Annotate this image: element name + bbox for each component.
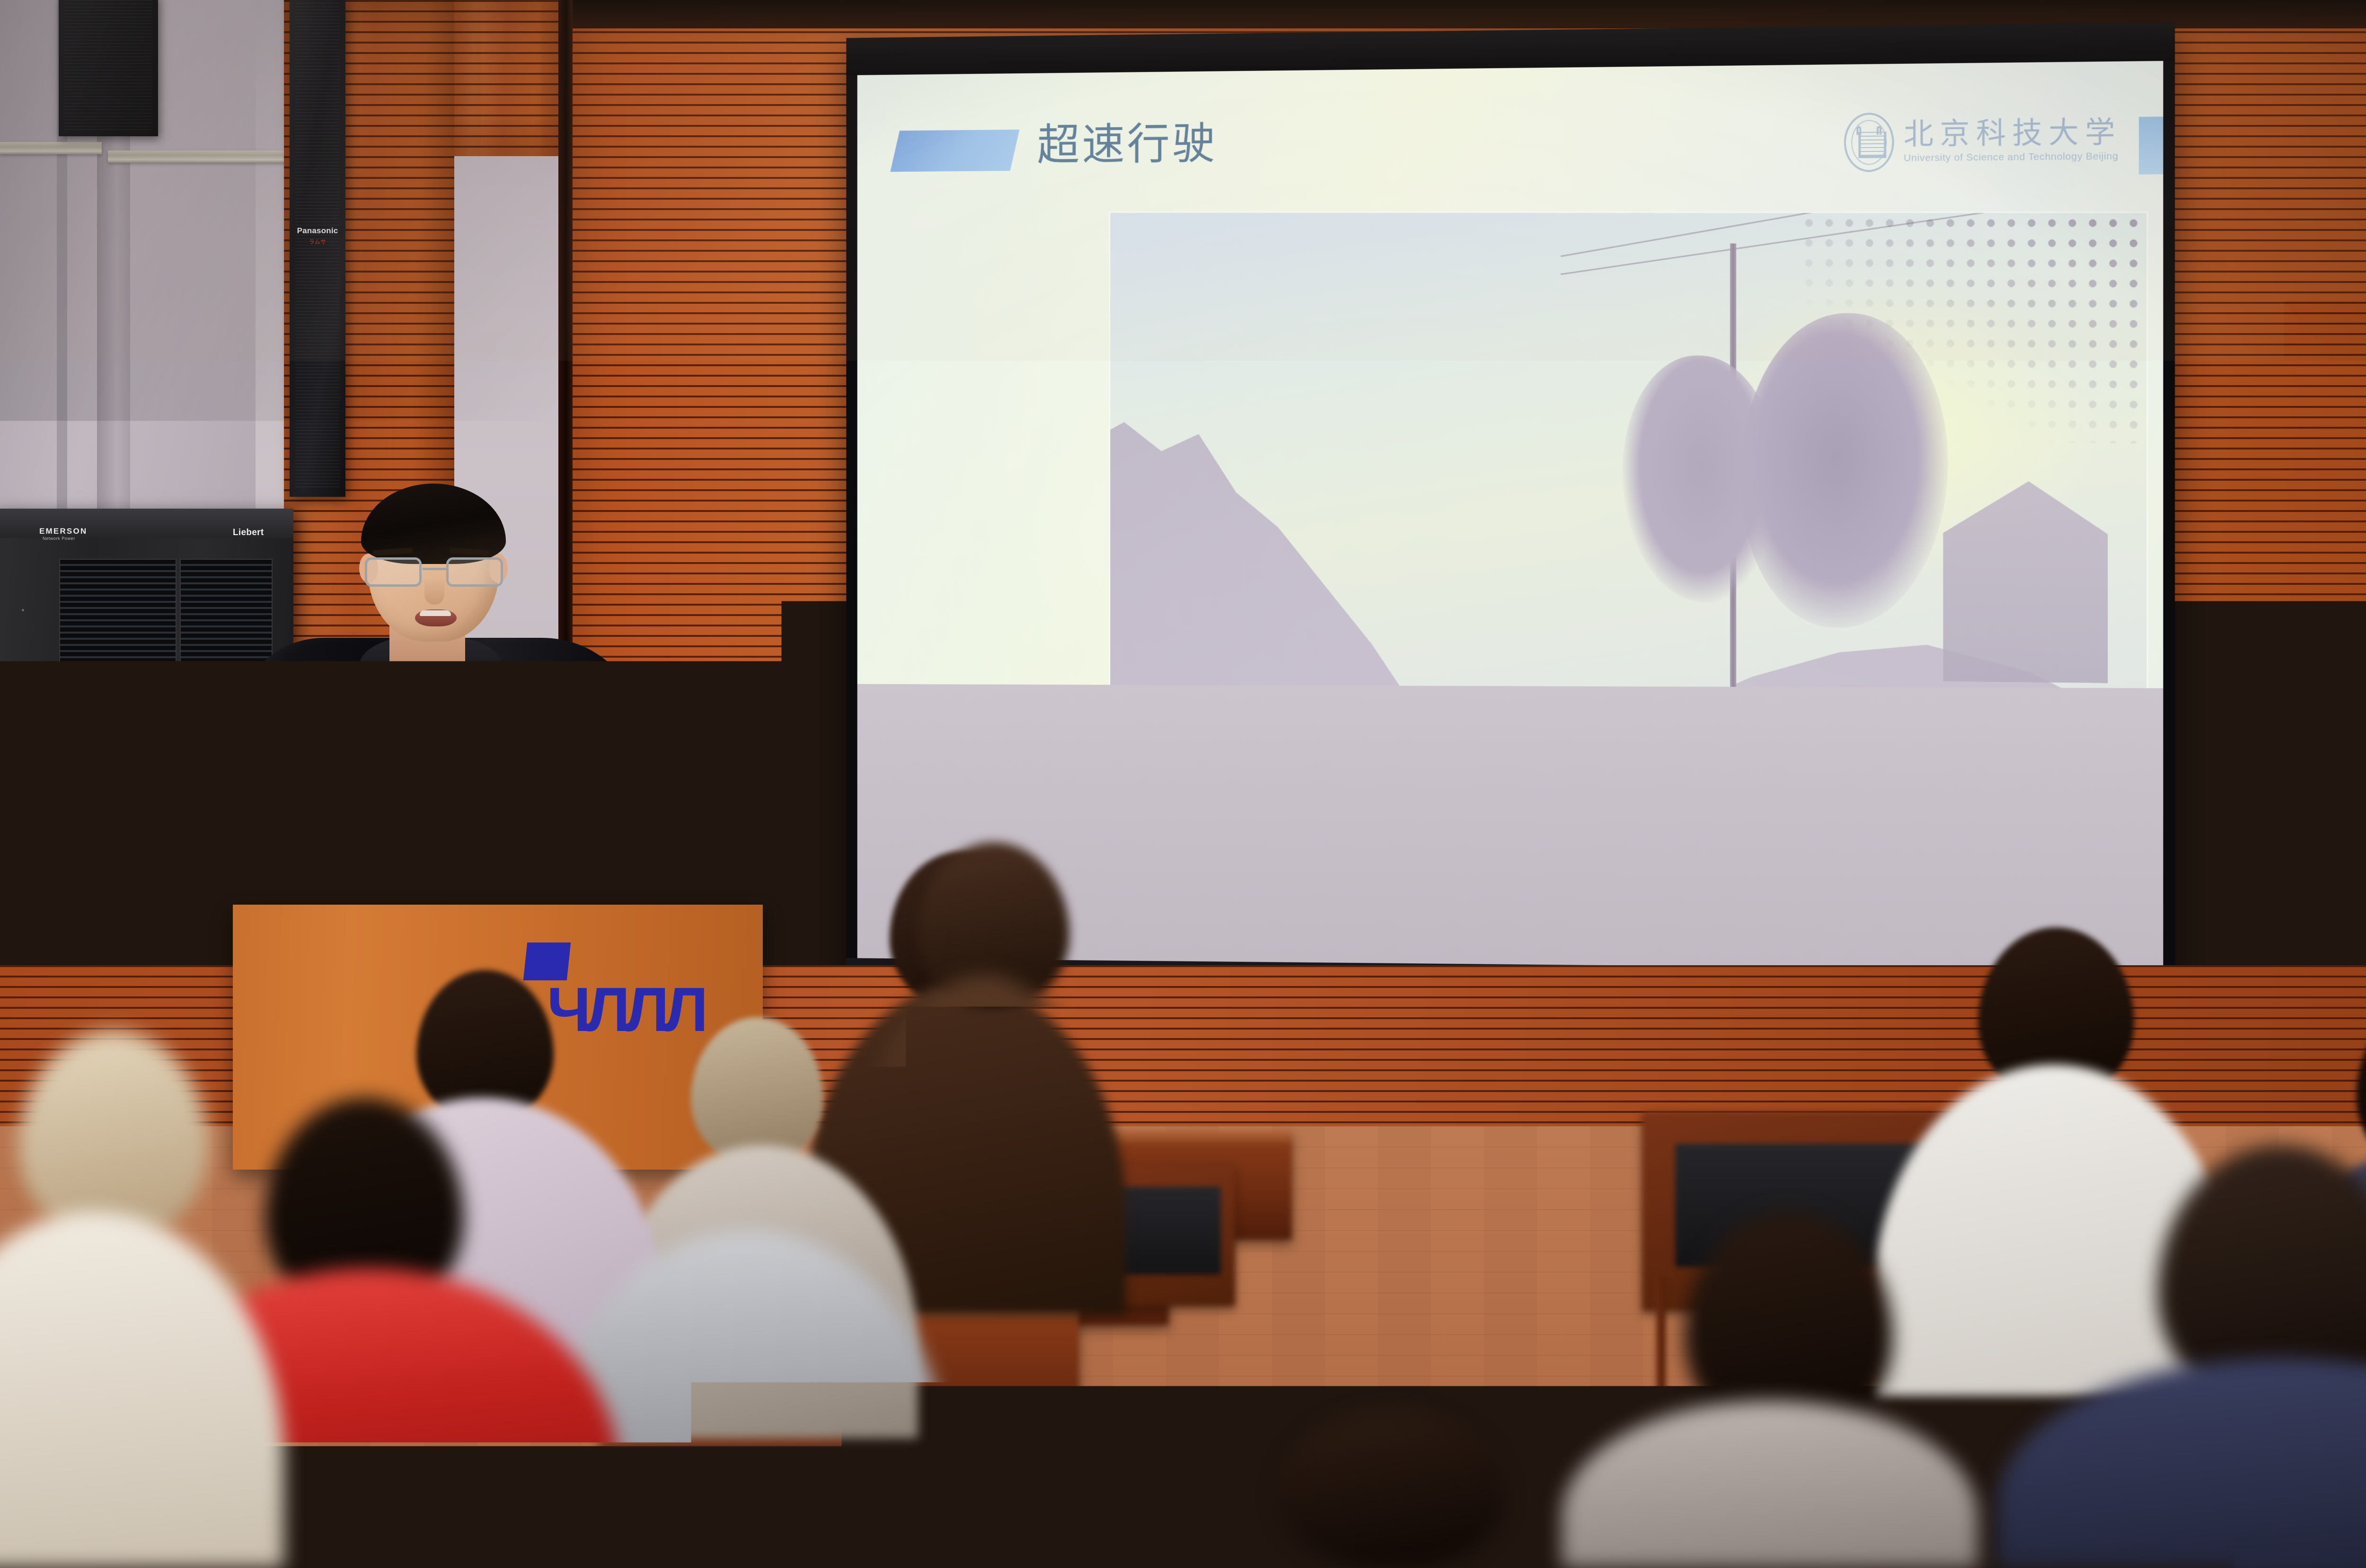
podium-emblem-mark: ЧЛЛЛ (547, 978, 704, 1041)
ups-button-down[interactable] (207, 713, 213, 718)
university-seal-icon (1844, 113, 1894, 172)
laptop[interactable] (464, 827, 653, 878)
presenter-nose (424, 578, 444, 605)
lecture-hall-photo: Panasonic ラムサ EMERSON Network Power Lieb… (0, 0, 2366, 1568)
microphone-head (361, 723, 375, 746)
bottle-cap (421, 824, 441, 838)
ups-vent-left (59, 559, 177, 665)
speaker-grille (295, 3, 340, 488)
emerson-logo-sub: Network Power (43, 536, 75, 541)
slide-side-tab (2139, 116, 2163, 174)
seal-ear-left (1856, 126, 1861, 135)
university-name-en: University of Science and Technology Bei… (1904, 150, 2121, 164)
ups-status-led-green (141, 714, 144, 717)
ceiling-speaker-box (59, 0, 158, 136)
presenter-teeth (420, 610, 451, 616)
speaker-brand-label: Panasonic (290, 226, 345, 236)
university-name-cn: 北京科技大学 (1904, 118, 2121, 150)
ups-info-sticker (156, 730, 195, 747)
ups-status-led-red (148, 714, 151, 717)
ups-screw (22, 609, 24, 611)
glasses-bridge (423, 568, 446, 570)
ups-button[interactable] (199, 713, 205, 718)
slide-title: 超速行驶 (1037, 122, 1218, 167)
ups-button[interactable] (199, 704, 205, 708)
university-logo: 北京科技大学 University of Science and Technol… (1844, 110, 2121, 172)
glasses-lens-left (365, 557, 422, 587)
ups-lcd-display (155, 703, 192, 720)
speaker-brand-sub-label: ラムサ (290, 238, 345, 246)
slide-halftone-decoration (1799, 213, 2147, 443)
ups-button-up[interactable] (207, 704, 213, 708)
slide-accent-bar (890, 130, 1019, 172)
wall-trim-strip (0, 142, 102, 154)
jacket-print-left: #MOVE.ON (332, 755, 376, 764)
seal-ear-right (1877, 126, 1881, 134)
emerson-logo: EMERSON (39, 527, 87, 536)
ups-screw (25, 860, 27, 862)
slatted-wood-wall-left-upper (454, 0, 568, 156)
glasses-lens-right (446, 557, 503, 587)
university-logo-text: 北京科技大学 University of Science and Technol… (1904, 118, 2121, 164)
presenter-jacket-seam (265, 680, 355, 883)
panasonic-column-speaker: Panasonic ラムサ (290, 0, 345, 497)
laptop-power-led (474, 847, 478, 851)
